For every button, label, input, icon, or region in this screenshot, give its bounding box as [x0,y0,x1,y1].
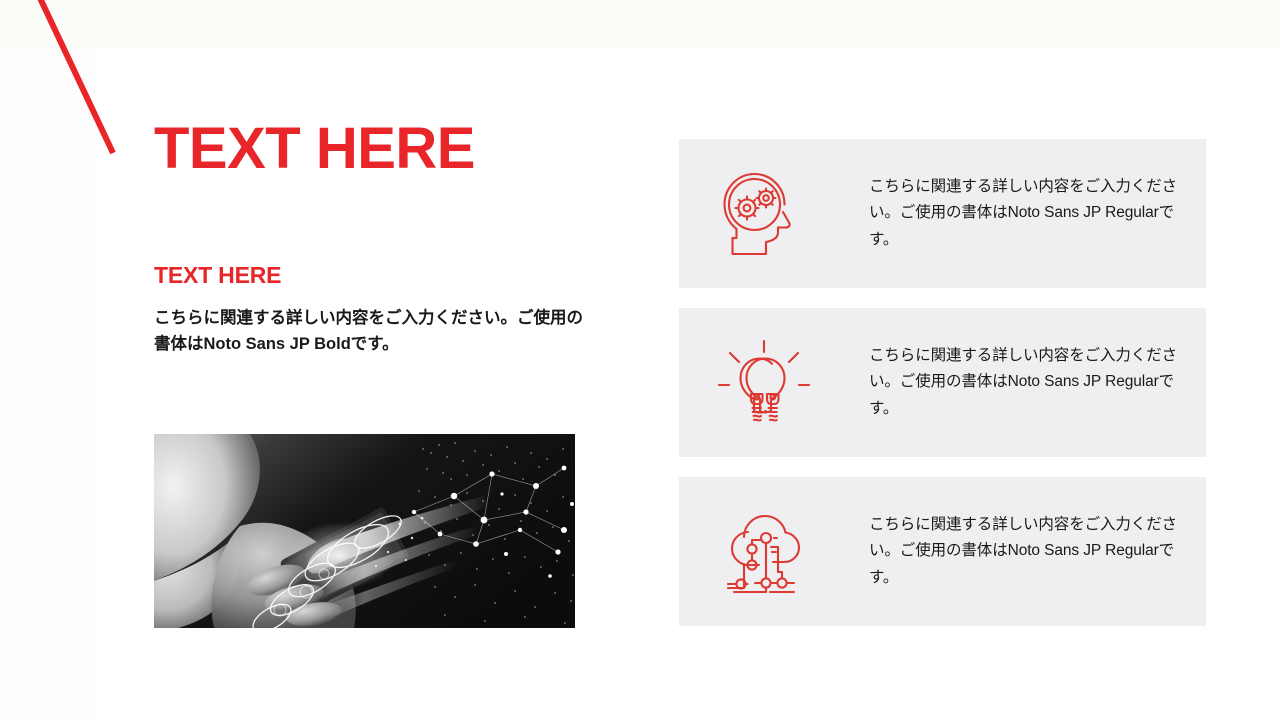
hero-photo [154,434,575,628]
top-background-band [0,0,1280,48]
feature-card[interactable]: こちらに関連する詳しい内容をご入力ください。ご使用の書体はNoto Sans J… [679,139,1206,288]
cloud-network-icon [705,493,823,611]
feature-card-list: こちらに関連する詳しい内容をご入力ください。ご使用の書体はNoto Sans J… [679,139,1206,646]
photo-illustration [154,434,575,628]
feature-card-text: こちらに関連する詳しい内容をご入力ください。ご使用の書体はNoto Sans J… [869,512,1179,592]
feature-card[interactable]: こちらに関連する詳しい内容をご入力ください。ご使用の書体はNoto Sans J… [679,308,1206,457]
page-title: TEXT HERE [154,120,584,178]
head-with-gears-icon [705,155,823,273]
section-subtitle: TEXT HERE [154,262,281,289]
lead-paragraph: こちらに関連する詳しい内容をご入力ください。ご使用の書体はNoto Sans J… [154,306,584,357]
left-content-column: TEXT HERE TEXT HERE こちらに関連する詳しい内容をご入力くださ… [154,120,584,178]
feature-card-text: こちらに関連する詳しい内容をご入力ください。ご使用の書体はNoto Sans J… [869,174,1179,254]
feature-card-text: こちらに関連する詳しい内容をご入力ください。ご使用の書体はNoto Sans J… [869,343,1179,423]
left-background-panel [0,48,96,720]
feature-card[interactable]: こちらに関連する詳しい内容をご入力ください。ご使用の書体はNoto Sans J… [679,477,1206,626]
two-lightbulbs-icon [705,324,823,442]
